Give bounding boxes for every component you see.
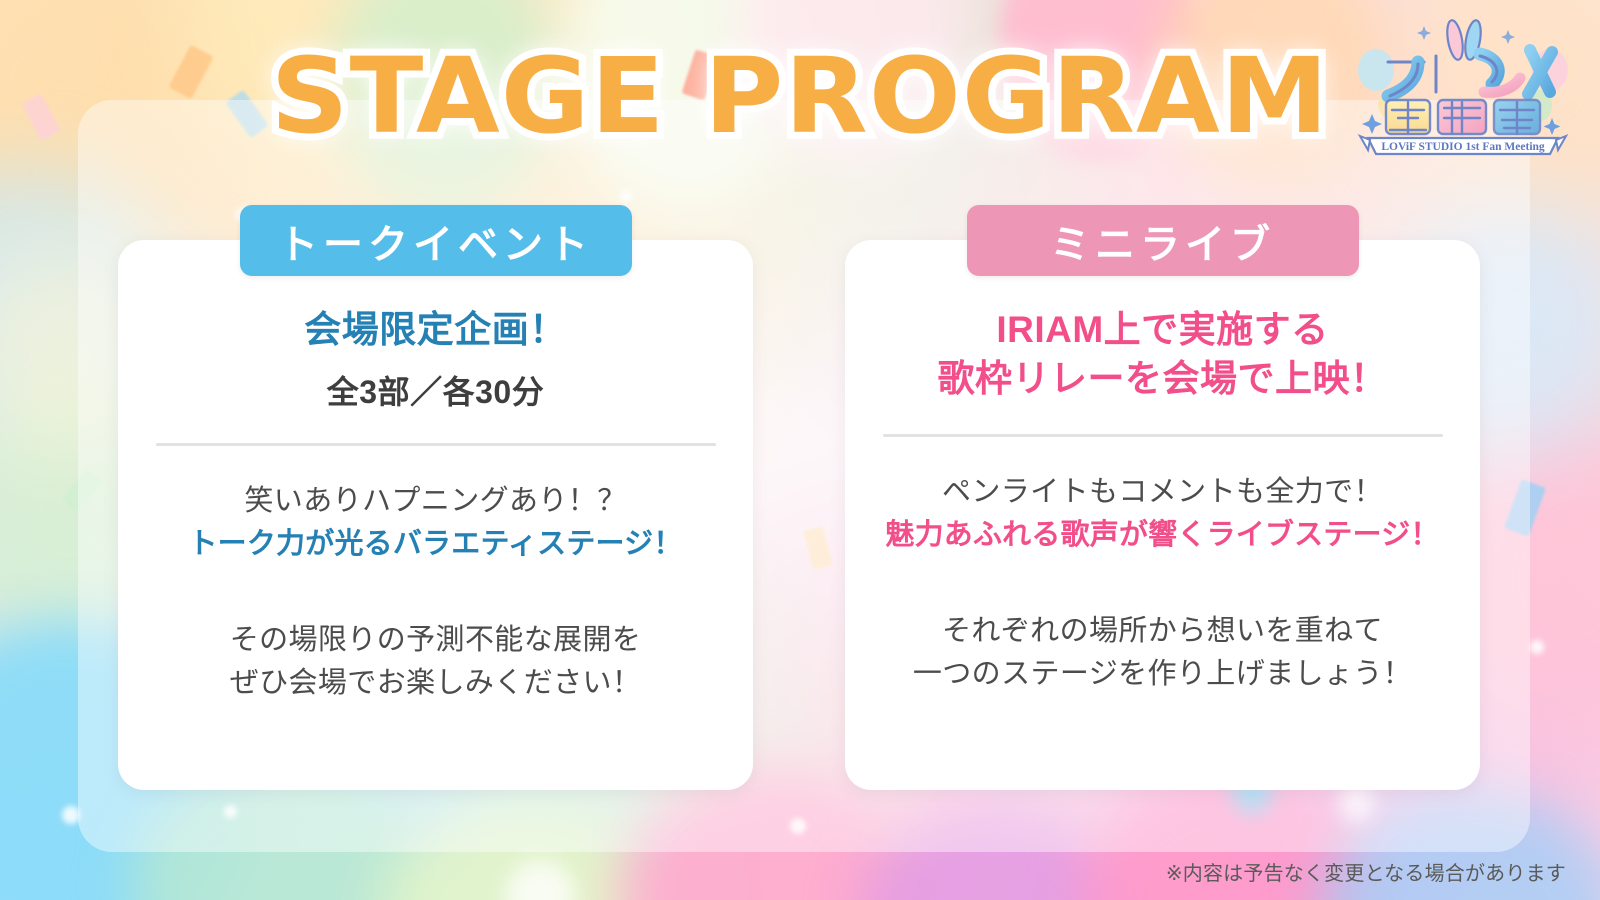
card-mini-live-heading-line1: IRIAM上で実施する bbox=[879, 306, 1446, 355]
card-talk-event-subheading: 全3部／各30分 bbox=[152, 367, 719, 413]
card-mini-live-divider bbox=[883, 434, 1443, 437]
body-line-accent: トーク力が光るバラエティステージ！ bbox=[152, 523, 719, 567]
pill-talk-event-label: トークイベント bbox=[278, 212, 593, 270]
body-line: ペンライトもコメントも全力で！ bbox=[879, 471, 1446, 515]
card-talk-event-heading: 会場限定企画！ bbox=[152, 306, 719, 355]
column-talk-event: トークイベント 会場限定企画！ 全3部／各30分 笑いありハプニングあり！？ ト… bbox=[118, 205, 753, 790]
footer-disclaimer: ※内容は予告なく変更となる場合があります bbox=[1166, 857, 1566, 886]
card-mini-live-heading-line2: 歌枠リレーを会場で上映！ bbox=[879, 355, 1446, 404]
body-line: それぞれの場所から想いを重ねて bbox=[879, 610, 1446, 654]
pill-mini-live[interactable]: ミニライブ bbox=[967, 205, 1359, 276]
event-logo: LOViF STUDIO 1st Fan Meeting bbox=[1352, 18, 1574, 160]
body-line-accent: 魅力あふれる歌声が響くライブステージ！ bbox=[879, 514, 1446, 558]
card-talk-event: 会場限定企画！ 全3部／各30分 笑いありハプニングあり！？ トーク力が光るバラ… bbox=[118, 240, 753, 790]
body-line: 一つのステージを作り上げましょう！ bbox=[879, 653, 1446, 697]
card-talk-event-block-2: その場限りの予測不能な展開を ぜひ会場でお楽しみください！ bbox=[152, 619, 719, 706]
body-line: その場限りの予測不能な展開を bbox=[152, 619, 719, 663]
column-mini-live: ミニライブ IRIAM上で実施する 歌枠リレーを会場で上映！ ペンライトもコメン… bbox=[845, 205, 1480, 790]
logo-banner-text: LOViF STUDIO 1st Fan Meeting bbox=[1381, 141, 1545, 153]
card-mini-live-block-1: ペンライトもコメントも全力で！ 魅力あふれる歌声が響くライブステージ！ bbox=[879, 471, 1446, 558]
card-talk-event-divider bbox=[156, 443, 716, 446]
card-mini-live-block-2: それぞれの場所から想いを重ねて 一つのステージを作り上げましょう！ bbox=[879, 610, 1446, 697]
pill-talk-event[interactable]: トークイベント bbox=[240, 205, 632, 276]
body-line: 笑いありハプニングあり！？ bbox=[152, 480, 719, 524]
card-mini-live: IRIAM上で実施する 歌枠リレーを会場で上映！ ペンライトもコメントも全力で！… bbox=[845, 240, 1480, 790]
poster-canvas: STAGE PROGRAM bbox=[0, 0, 1600, 900]
body-line: ぜひ会場でお楽しみください！ bbox=[152, 662, 719, 706]
pill-mini-live-label: ミニライブ bbox=[1050, 212, 1275, 270]
card-talk-event-block-1: 笑いありハプニングあり！？ トーク力が光るバラエティステージ！ bbox=[152, 480, 719, 567]
program-columns: トークイベント 会場限定企画！ 全3部／各30分 笑いありハプニングあり！？ ト… bbox=[0, 205, 1600, 805]
